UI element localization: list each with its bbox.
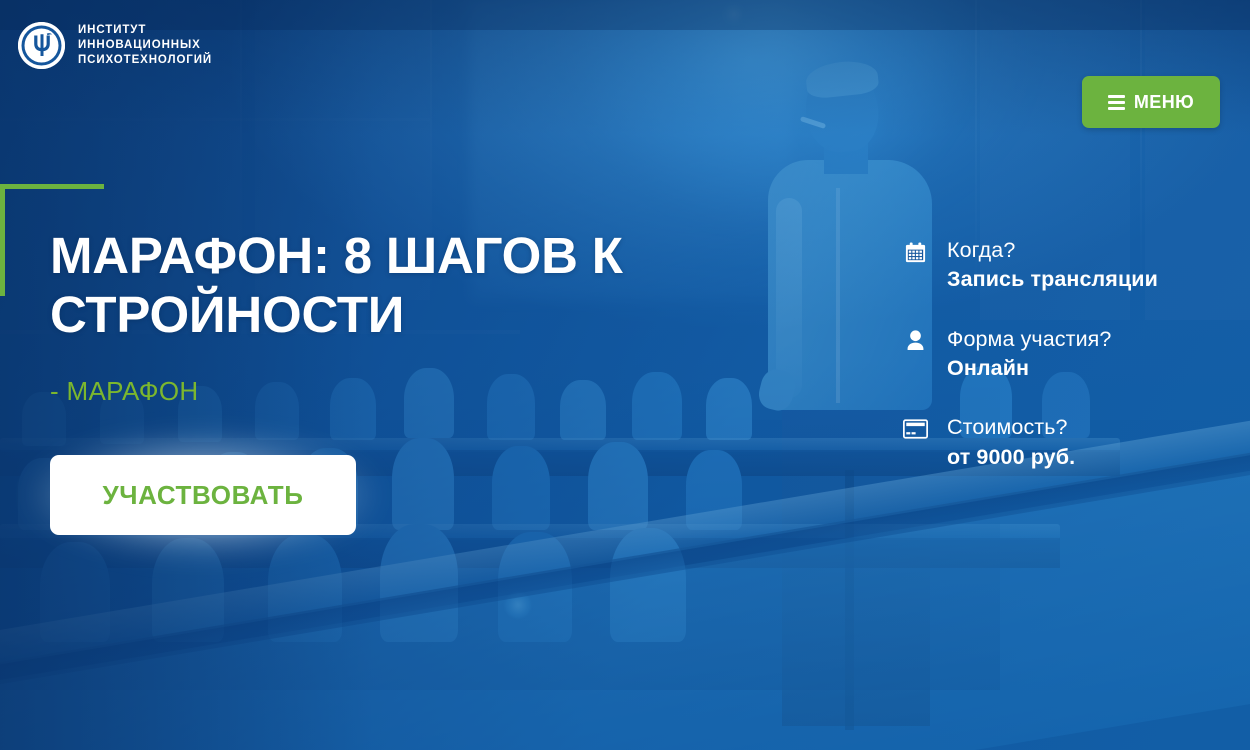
participate-button[interactable]: УЧАСТВОВАТЬ bbox=[50, 455, 356, 535]
page-title: МАРАФОН: 8 ШАГОВ К СТРОЙНОСТИ bbox=[50, 226, 670, 344]
logo-line-2: ИННОВАЦИОННЫХ bbox=[78, 38, 212, 53]
info-item-price: Стоимость? от 9000 руб. bbox=[900, 413, 1230, 472]
menu-button-label: МЕНЮ bbox=[1134, 92, 1194, 113]
site-logo[interactable]: ИНСТИТУТ ИННОВАЦИОННЫХ ПСИХОТЕХНОЛОГИЙ bbox=[18, 22, 212, 69]
info-answer: Онлайн bbox=[947, 354, 1230, 383]
info-answer: от 9000 руб. bbox=[947, 443, 1230, 472]
menu-button[interactable]: МЕНЮ bbox=[1082, 76, 1220, 128]
calendar-icon bbox=[900, 239, 930, 265]
hero-section: ИНСТИТУТ ИННОВАЦИОННЫХ ПСИХОТЕХНОЛОГИЙ М… bbox=[0, 0, 1250, 750]
logo-line-1: ИНСТИТУТ bbox=[78, 23, 212, 38]
info-item-format: Форма участия? Онлайн bbox=[900, 325, 1230, 384]
logo-line-3: ПСИХОТЕХНОЛОГИЙ bbox=[78, 53, 212, 68]
cta-container: УЧАСТВОВАТЬ bbox=[50, 455, 356, 535]
info-question: Стоимость? bbox=[947, 413, 1230, 441]
hero-subtitle: - МАРАФОН bbox=[50, 376, 198, 407]
psi-circle-logo-icon bbox=[18, 22, 65, 69]
logo-wordmark: ИНСТИТУТ ИННОВАЦИОННЫХ ПСИХОТЕХНОЛОГИЙ bbox=[78, 23, 212, 69]
credit-card-icon bbox=[900, 416, 930, 442]
info-answer: Запись трансляции bbox=[947, 265, 1230, 294]
hamburger-icon bbox=[1108, 95, 1125, 110]
user-icon bbox=[900, 328, 930, 354]
info-question: Форма участия? bbox=[947, 325, 1230, 353]
event-info-list: Когда? Запись трансляции Форма участия? … bbox=[900, 236, 1230, 472]
info-question: Когда? bbox=[947, 236, 1230, 264]
info-item-when: Когда? Запись трансляции bbox=[900, 236, 1230, 295]
